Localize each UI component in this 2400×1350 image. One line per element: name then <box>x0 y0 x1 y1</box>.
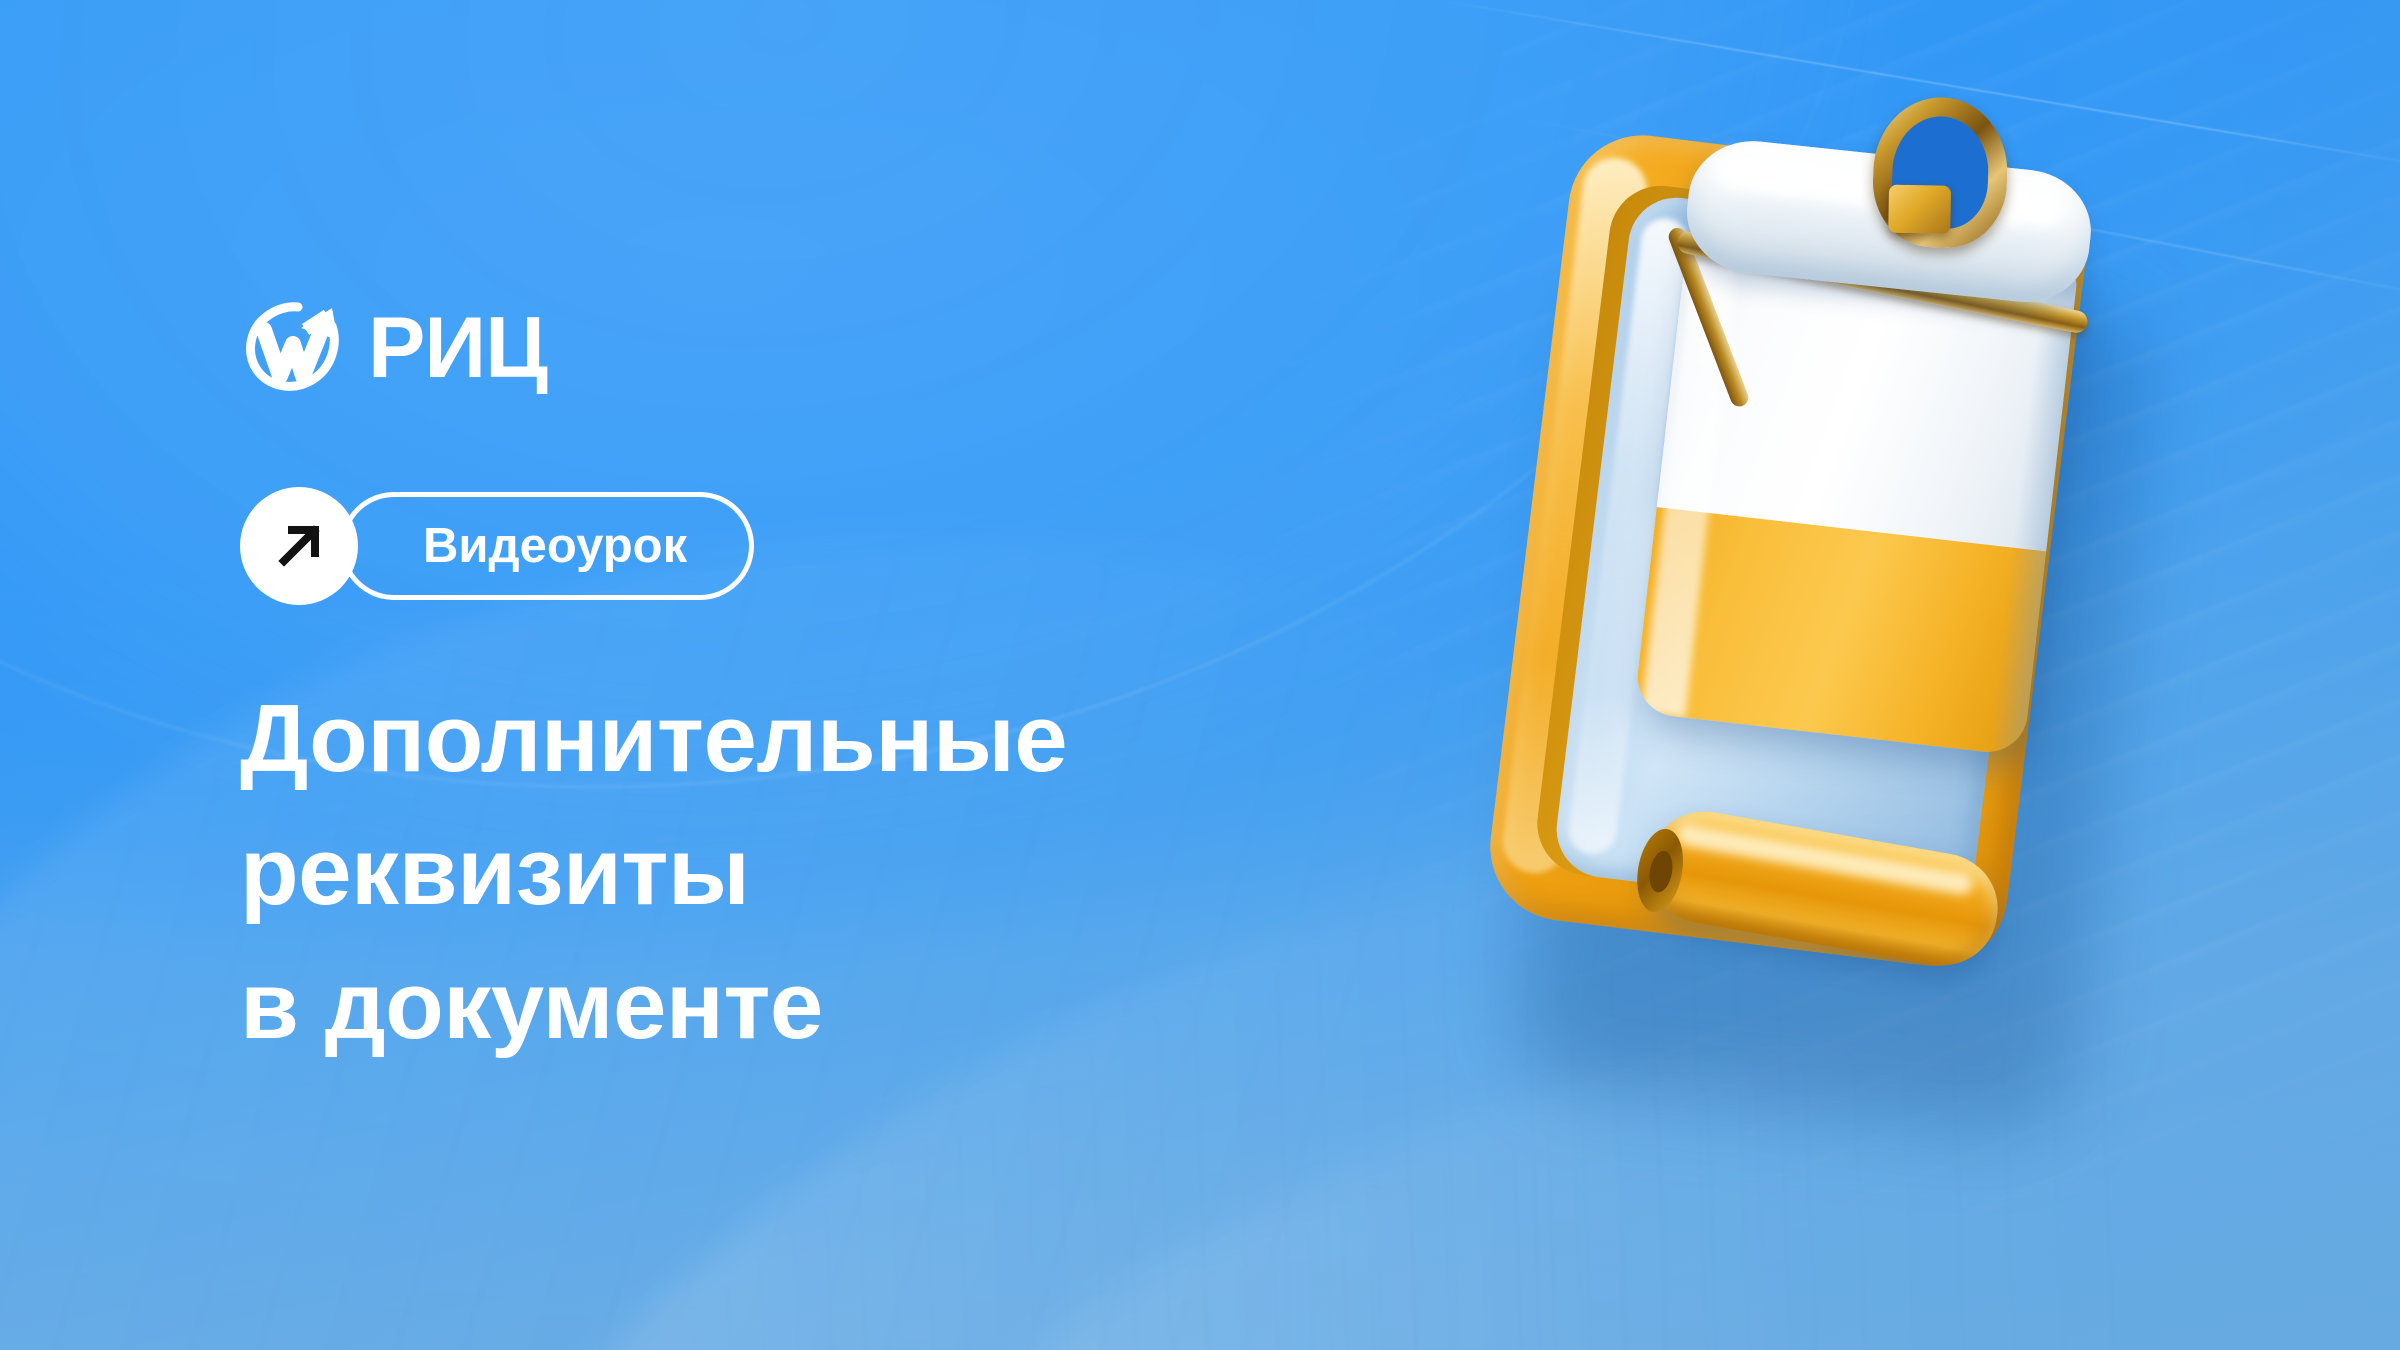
badge-pill[interactable]: Видеоурок <box>340 492 754 600</box>
headline-line-1: Дополнительные <box>240 672 1400 805</box>
page-title: Дополнительные реквизиты в документе <box>240 672 1400 1072</box>
badge-arrow-circle[interactable] <box>240 487 358 605</box>
brand-name: РИЦ <box>368 305 547 391</box>
content-column: РИЦ Видеоурок Дополнительные реквизиты в… <box>240 0 1420 1350</box>
headline-line-3: в документе <box>240 939 1400 1072</box>
badge-label: Видеоурок <box>423 522 687 571</box>
promo-banner: РИЦ Видеоурок Дополнительные реквизиты в… <box>0 0 2400 1350</box>
arrow-up-circle-w-logo-icon <box>240 292 352 404</box>
brand-logo[interactable]: РИЦ <box>240 292 547 404</box>
arrow-up-right-icon <box>270 517 328 575</box>
videolesson-badge[interactable]: Видеоурок <box>240 487 754 605</box>
clipboard-3d-illustration <box>1490 100 2310 1180</box>
headline-line-2: реквизиты <box>240 805 1400 938</box>
clipboard-ring-base <box>1888 185 1951 234</box>
